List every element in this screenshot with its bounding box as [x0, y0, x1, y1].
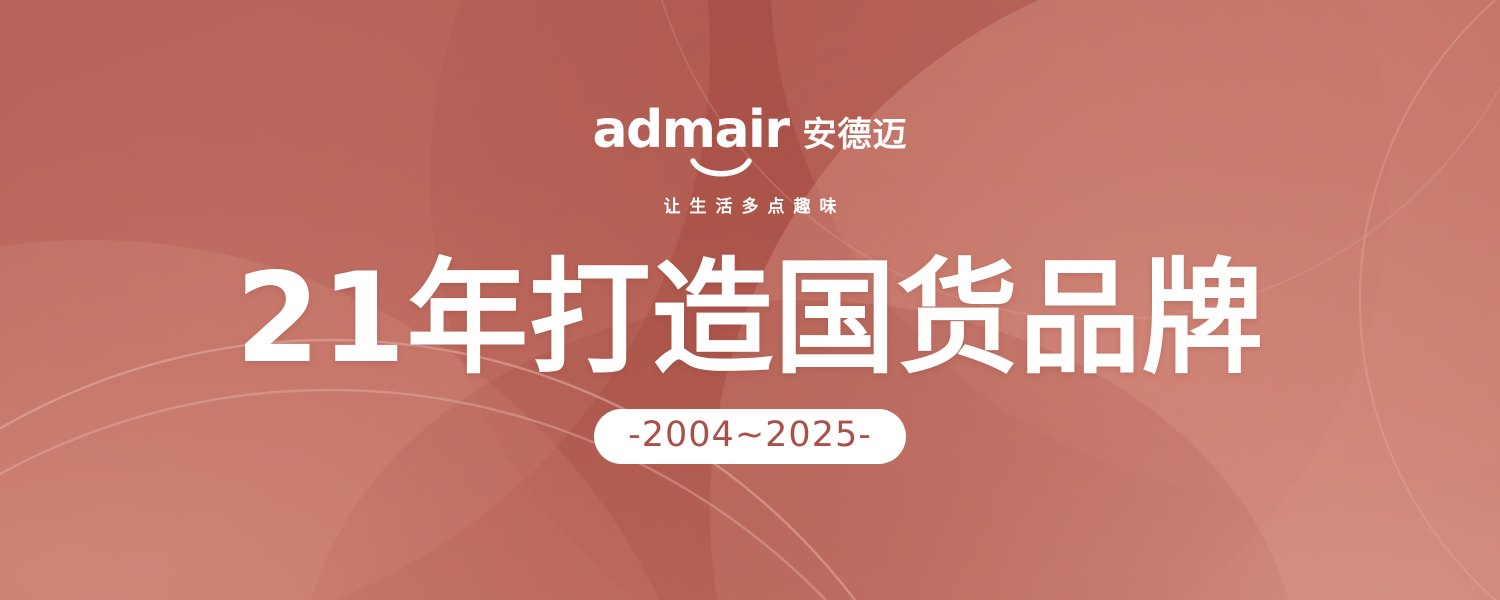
- smile-arc-icon: [690, 158, 752, 178]
- wordmark: admair: [592, 104, 788, 156]
- brand-logo: admair 安德迈: [592, 104, 907, 156]
- year-range-badge: -2004~2025-: [594, 409, 906, 464]
- wordmark-text: admair: [592, 104, 788, 156]
- brand-banner: admair 安德迈 让生活多点趣味 21年打造国货品牌 -2004~2025-: [0, 0, 1500, 600]
- brand-tagline: 让生活多点趣味: [655, 192, 846, 217]
- headline: 21年打造国货品牌: [236, 257, 1265, 381]
- wordmark-cn: 安德迈: [803, 118, 908, 156]
- banner-content: admair 安德迈 让生活多点趣味 21年打造国货品牌 -2004~2025-: [0, 0, 1500, 600]
